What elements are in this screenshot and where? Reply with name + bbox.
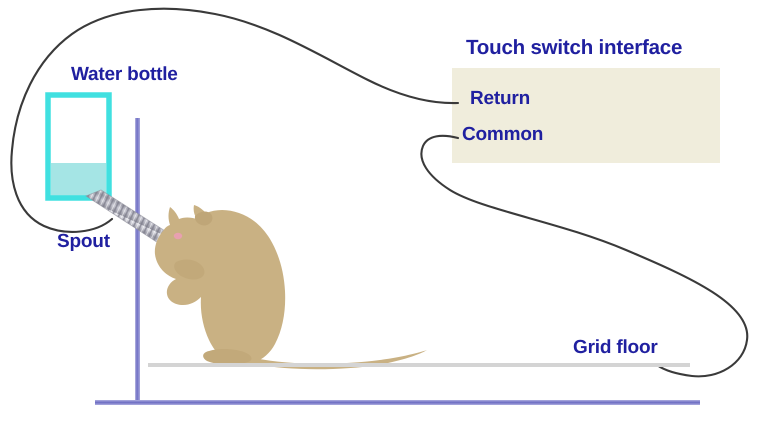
stand-post <box>135 118 140 405</box>
return-terminal-label: Return <box>470 88 530 110</box>
diagram-canvas: Touch switch interface Return Common Wat… <box>0 0 784 444</box>
water-bottle-label: Water bottle <box>71 64 178 86</box>
baseline <box>95 400 700 405</box>
rat-eye <box>174 233 182 239</box>
rat <box>155 205 427 369</box>
grid-floor-line <box>148 363 690 367</box>
rat-body <box>155 205 285 364</box>
spout-label: Spout <box>57 231 110 253</box>
water-bottle-air <box>51 98 106 163</box>
touch-switch-interface-title: Touch switch interface <box>466 36 682 60</box>
grid-floor-label: Grid floor <box>573 337 658 359</box>
water-bottle <box>48 95 109 198</box>
common-terminal-label: Common <box>462 124 543 146</box>
touch-switch-interface-box <box>452 68 720 163</box>
